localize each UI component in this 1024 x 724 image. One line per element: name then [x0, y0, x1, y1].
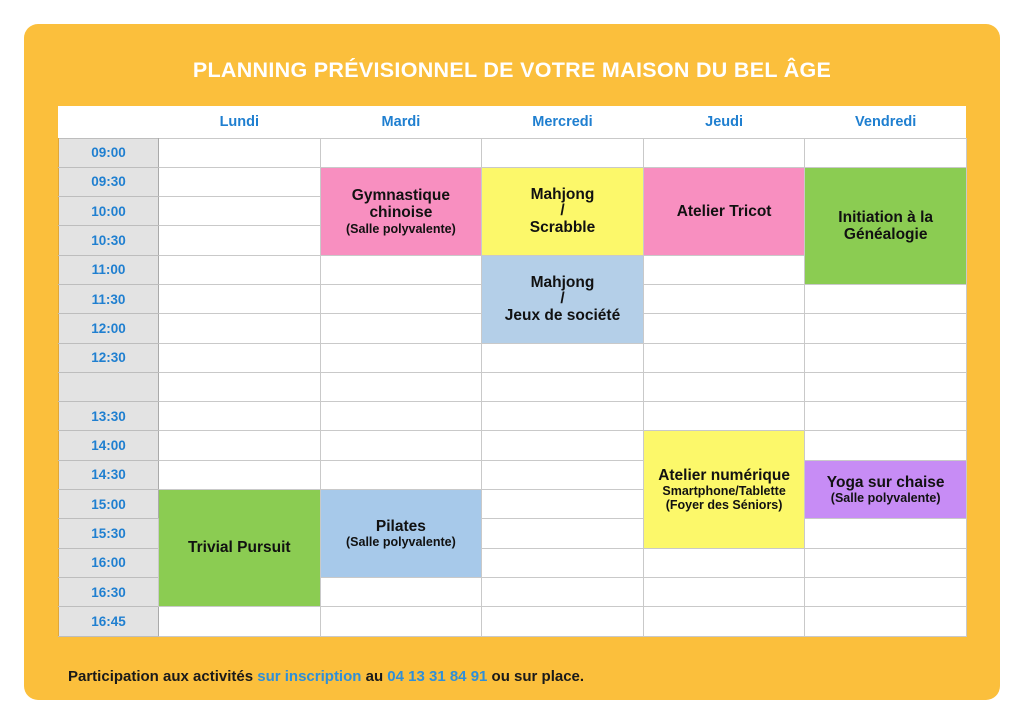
footer-link-inscription[interactable]: sur inscription	[257, 668, 361, 685]
time-label-1330: 13:30	[59, 402, 159, 431]
table-row: 14:00Atelier numériqueSmartphone/Tablett…	[59, 431, 967, 460]
time-label-1400: 14:00	[59, 431, 159, 460]
event-title: Yoga sur chaise	[805, 474, 966, 491]
empty-slot[interactable]	[320, 460, 482, 489]
table-row: 13:30	[59, 402, 967, 431]
empty-slot[interactable]	[320, 372, 482, 401]
event-initiation-genealogie[interactable]: Initiation à laGénéalogie	[805, 167, 967, 284]
day-header-vendredi: Vendredi	[805, 106, 967, 138]
footer-text-1: Participation aux activités	[68, 668, 257, 685]
event-atelier-numerique[interactable]: Atelier numériqueSmartphone/Tablette(Foy…	[643, 431, 805, 548]
planning-grid: Lundi Mardi Mercredi Jeudi Vendredi 09:0…	[58, 106, 966, 626]
header-row: Lundi Mardi Mercredi Jeudi Vendredi	[59, 106, 967, 138]
empty-slot[interactable]	[643, 577, 805, 606]
empty-slot[interactable]	[320, 431, 482, 460]
time-label-1100: 11:00	[59, 255, 159, 284]
event-separator: /	[482, 203, 643, 219]
empty-slot[interactable]	[805, 372, 967, 401]
table-body: 09:0009:30Gymnastiquechinoise(Salle poly…	[59, 138, 967, 636]
empty-slot[interactable]	[159, 460, 321, 489]
empty-slot[interactable]	[159, 431, 321, 460]
empty-slot[interactable]	[320, 314, 482, 343]
footer-note: Participation aux activités sur inscript…	[68, 668, 584, 685]
event-location: (Salle polyvalente)	[805, 491, 966, 505]
empty-slot[interactable]	[320, 255, 482, 284]
day-header-jeudi: Jeudi	[643, 106, 805, 138]
time-label-1645: 16:45	[59, 607, 159, 636]
event-title: Mahjong	[482, 274, 643, 291]
empty-slot[interactable]	[805, 577, 967, 606]
empty-slot[interactable]	[320, 138, 482, 167]
time-label-empty	[59, 372, 159, 401]
poster-frame: PLANNING PRÉVISIONNEL DE VOTRE MAISON DU…	[24, 24, 1000, 700]
empty-slot[interactable]	[482, 607, 644, 636]
empty-slot[interactable]	[805, 548, 967, 577]
empty-slot[interactable]	[643, 284, 805, 313]
empty-slot[interactable]	[159, 138, 321, 167]
event-mahjong-scrabble[interactable]: Mahjong/Scrabble	[482, 167, 644, 255]
empty-slot[interactable]	[159, 372, 321, 401]
event-gymnastique-chinoise[interactable]: Gymnastiquechinoise(Salle polyvalente)	[320, 167, 482, 255]
event-title: Atelier Tricot	[644, 203, 805, 220]
time-label-1200: 12:00	[59, 314, 159, 343]
empty-slot[interactable]	[643, 548, 805, 577]
empty-slot[interactable]	[643, 138, 805, 167]
event-title: Mahjong	[482, 186, 643, 203]
event-trivial-pursuit[interactable]: Trivial Pursuit	[159, 490, 321, 607]
table-row	[59, 372, 967, 401]
empty-slot[interactable]	[805, 607, 967, 636]
event-title: Pilates	[321, 518, 482, 535]
empty-slot[interactable]	[159, 343, 321, 372]
event-title-line2: Jeux de société	[482, 307, 643, 324]
schedule-table: Lundi Mardi Mercredi Jeudi Vendredi 09:0…	[58, 106, 967, 637]
event-title: Atelier numérique	[644, 467, 805, 484]
footer-text-3: ou sur place.	[487, 668, 584, 685]
time-label-1030: 10:30	[59, 226, 159, 255]
table-row: 09:00	[59, 138, 967, 167]
day-header-mardi: Mardi	[320, 106, 482, 138]
empty-slot[interactable]	[482, 402, 644, 431]
time-label-1230: 12:30	[59, 343, 159, 372]
time-label-1430: 14:30	[59, 460, 159, 489]
empty-slot[interactable]	[805, 431, 967, 460]
event-location: (Foyer des Séniors)	[644, 498, 805, 512]
day-header-lundi: Lundi	[159, 106, 321, 138]
empty-slot[interactable]	[643, 402, 805, 431]
event-title: Initiation à la	[805, 209, 966, 226]
event-yoga-sur-chaise[interactable]: Yoga sur chaise(Salle polyvalente)	[805, 460, 967, 519]
empty-slot[interactable]	[482, 577, 644, 606]
empty-slot[interactable]	[482, 460, 644, 489]
event-location: (Salle polyvalente)	[321, 222, 482, 236]
table-row: 12:30	[59, 343, 967, 372]
footer-text-2: au	[361, 668, 387, 685]
empty-slot[interactable]	[159, 284, 321, 313]
empty-slot[interactable]	[159, 607, 321, 636]
empty-slot[interactable]	[805, 138, 967, 167]
event-title-line2: Scrabble	[482, 219, 643, 236]
table-row: 14:30Yoga sur chaise(Salle polyvalente)	[59, 460, 967, 489]
empty-slot[interactable]	[482, 372, 644, 401]
page-title: PLANNING PRÉVISIONNEL DE VOTRE MAISON DU…	[24, 58, 1000, 83]
event-title: Gymnastique	[321, 187, 482, 204]
time-column-header	[59, 106, 159, 138]
time-label-0930: 09:30	[59, 167, 159, 196]
empty-slot[interactable]	[643, 372, 805, 401]
empty-slot[interactable]	[320, 402, 482, 431]
footer-phone-number[interactable]: 04 13 31 84 91	[387, 668, 487, 685]
empty-slot[interactable]	[805, 284, 967, 313]
empty-slot[interactable]	[805, 343, 967, 372]
event-separator: /	[482, 291, 643, 307]
table-header: Lundi Mardi Mercredi Jeudi Vendredi	[59, 106, 967, 138]
empty-slot[interactable]	[159, 255, 321, 284]
empty-slot[interactable]	[320, 343, 482, 372]
empty-slot[interactable]	[482, 519, 644, 548]
time-label-1130: 11:30	[59, 284, 159, 313]
time-label-1630: 16:30	[59, 577, 159, 606]
event-title-line2: chinoise	[321, 204, 482, 221]
event-mahjong-jeux-societe[interactable]: Mahjong/Jeux de société	[482, 255, 644, 343]
empty-slot[interactable]	[805, 519, 967, 548]
event-atelier-tricot[interactable]: Atelier Tricot	[643, 167, 805, 255]
empty-slot[interactable]	[643, 607, 805, 636]
empty-slot[interactable]	[320, 607, 482, 636]
event-title: Trivial Pursuit	[159, 539, 320, 556]
empty-slot[interactable]	[805, 314, 967, 343]
empty-slot[interactable]	[159, 314, 321, 343]
time-label-1530: 15:30	[59, 519, 159, 548]
event-location: (Salle polyvalente)	[321, 535, 482, 549]
empty-slot[interactable]	[159, 402, 321, 431]
table-row: 16:45	[59, 607, 967, 636]
time-label-1600: 16:00	[59, 548, 159, 577]
event-title-line2: Généalogie	[805, 226, 966, 243]
empty-slot[interactable]	[320, 284, 482, 313]
empty-slot[interactable]	[159, 197, 321, 226]
day-header-mercredi: Mercredi	[482, 106, 644, 138]
time-label-0900: 09:00	[59, 138, 159, 167]
empty-slot[interactable]	[482, 138, 644, 167]
empty-slot[interactable]	[482, 343, 644, 372]
empty-slot[interactable]	[482, 548, 644, 577]
empty-slot[interactable]	[482, 431, 644, 460]
time-label-1500: 15:00	[59, 490, 159, 519]
event-subtitle: Smartphone/Tablette	[644, 484, 805, 498]
table-row: 09:30Gymnastiquechinoise(Salle polyvalen…	[59, 167, 967, 196]
empty-slot[interactable]	[643, 255, 805, 284]
empty-slot[interactable]	[482, 490, 644, 519]
event-pilates[interactable]: Pilates(Salle polyvalente)	[320, 490, 482, 578]
empty-slot[interactable]	[159, 226, 321, 255]
time-label-1000: 10:00	[59, 197, 159, 226]
empty-slot[interactable]	[159, 167, 321, 196]
empty-slot[interactable]	[643, 314, 805, 343]
empty-slot[interactable]	[643, 343, 805, 372]
empty-slot[interactable]	[320, 577, 482, 606]
empty-slot[interactable]	[805, 402, 967, 431]
